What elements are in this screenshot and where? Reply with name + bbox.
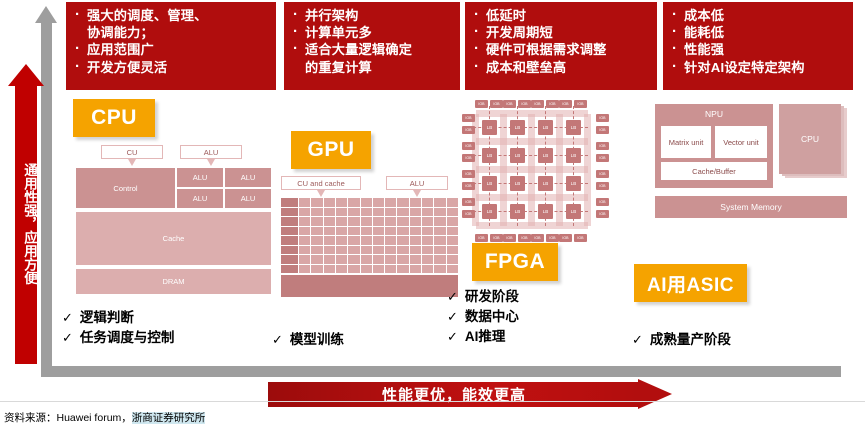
gpu-alu-cell: [299, 198, 310, 207]
gpu-alu-cell: [434, 255, 445, 264]
gpu-alu-cell: [324, 255, 335, 264]
feature-item: 适合大量逻辑确定: [290, 41, 454, 58]
gpu-alu-cell: [434, 227, 445, 236]
cpu-cache-block: Cache: [75, 211, 272, 266]
gpu-alu-cell: [397, 265, 408, 274]
gpu-alu-cell: [397, 236, 408, 245]
feature-item: 针对AI设定特定架构: [669, 59, 847, 76]
chip-label-asic: AI用ASIC: [634, 264, 747, 302]
gpu-cu-cache-cell: [281, 236, 298, 245]
gpu-alu-cell: [324, 217, 335, 226]
feature-item: 开发周期短: [471, 24, 651, 41]
fpga-io-block: IOB: [462, 210, 475, 218]
gpu-alu-cell: [299, 246, 310, 255]
fpga-logic-block: LB: [510, 120, 525, 135]
chip-label-fpga: FPGA: [472, 243, 558, 281]
gpu-alu-cell: [299, 217, 310, 226]
gpu-alu-cell: [299, 265, 310, 274]
gpu-alu-cell: [324, 236, 335, 245]
callout-label: ALU: [204, 148, 219, 157]
gpu-alu-cell: [311, 227, 322, 236]
check-row: ✓ 研发阶段: [447, 287, 519, 307]
gpu-alu-cell: [348, 227, 359, 236]
gpu-alu-cell: [434, 236, 445, 245]
footer-source-link[interactable]: 浙商证券研究所: [132, 412, 206, 424]
check-row: ✓ 模型训练: [272, 330, 344, 350]
fpga-logic-block: LB: [566, 120, 581, 135]
fpga-io-block: IOB: [596, 114, 609, 122]
fpga-logic-block: LB: [482, 148, 497, 163]
feature-item: 并行架构: [290, 7, 454, 24]
gpu-alu-cell: [447, 236, 458, 245]
check-label: 逻辑判断: [80, 308, 134, 328]
gpu-alu-cell: [299, 227, 310, 236]
feature-box-gpu: 并行架构 计算单元多 适合大量逻辑确定 的重复计算: [284, 2, 460, 90]
gpu-alu-cell: [447, 255, 458, 264]
fpga-logic-block: LB: [538, 148, 553, 163]
npu-matrix-unit: Matrix unit: [661, 126, 711, 158]
gpu-alu-cell: [311, 255, 322, 264]
gpu-alu-cell: [410, 198, 421, 207]
gpu-alu-cell: [348, 246, 359, 255]
gpu-alu-cell: [361, 208, 372, 217]
fpga-logic-block: LB: [482, 120, 497, 135]
gpu-alu-cell: [385, 198, 396, 207]
check-label: 成熟量产阶段: [650, 330, 731, 350]
check-icon: ✓: [447, 287, 458, 307]
gpu-alu-cell: [397, 217, 408, 226]
gpu-alu-cell: [397, 255, 408, 264]
gpu-alu-cell: [336, 227, 347, 236]
fpga-io-block: IOB: [518, 234, 531, 242]
gpu-alu-cell: [397, 227, 408, 236]
gpu-alu-cell: [447, 246, 458, 255]
gpu-alu-cell: [348, 208, 359, 217]
gpu-cu-cache-cell: [281, 198, 298, 207]
feature-box-asic: 成本低 能耗低 性能强 针对AI设定特定架构: [663, 2, 853, 90]
gpu-alu-cell: [324, 265, 335, 274]
fpga-io-block: IOB: [503, 234, 516, 242]
check-row: ✓ 任务调度与控制: [62, 328, 174, 348]
gpu-alu-cell: [324, 246, 335, 255]
fpga-logic-block: LB: [482, 176, 497, 191]
gpu-alu-cell: [311, 246, 322, 255]
axis-horizontal-line: [41, 366, 841, 377]
gpu-alu-cell: [348, 217, 359, 226]
callout-label: CU: [127, 148, 138, 157]
feature-item: 性能强: [669, 41, 847, 58]
gpu-alu-cell: [385, 208, 396, 217]
feature-list-fpga: 低延时 开发周期短 硬件可根据需求调整 成本和壁垒高: [471, 7, 651, 76]
gpu-alu-cell: [422, 208, 433, 217]
fpga-logic-block: LB: [566, 176, 581, 191]
check-row: ✓ 逻辑判断: [62, 308, 174, 328]
footer-divider: [0, 401, 865, 402]
check-icon: ✓: [62, 328, 73, 348]
gpu-alu-cell: [299, 255, 310, 264]
fpga-logic-block: LB: [510, 148, 525, 163]
gpu-alu-cell: [410, 246, 421, 255]
gpu-alu-cell: [336, 236, 347, 245]
gpu-alu-cell: [373, 217, 384, 226]
gpu-alu-cell: [324, 227, 335, 236]
gpu-cu-cache-cell: [281, 265, 298, 274]
fpga-logic-block: LB: [510, 176, 525, 191]
gpu-alu-cell: [311, 198, 322, 207]
gpu-alu-cell: [361, 246, 372, 255]
gpu-alu-cell: [311, 265, 322, 274]
gpu-alu-cell: [336, 217, 347, 226]
gpu-alu-cell: [385, 227, 396, 236]
gpu-alu-cell: [397, 208, 408, 217]
fpga-logic-block: LB: [538, 204, 553, 219]
check-row: ✓ AI推理: [447, 327, 519, 347]
callout-pointer-icon: [317, 190, 325, 197]
fpga-io-block: IOB: [546, 100, 559, 108]
gpu-alu-cell: [422, 246, 433, 255]
fpga-io-block: IOB: [596, 126, 609, 134]
gpu-alu-cell: [447, 198, 458, 207]
checklist-fpga: ✓ 研发阶段 ✓ 数据中心 ✓ AI推理: [447, 287, 519, 347]
cpu-alu-block: ALU: [176, 167, 224, 188]
slide-canvas: 通用性强，应用方便 强大的调度、管理、 协调能力； 应用范围广 开发方便灵活 并…: [0, 0, 865, 434]
gpu-alu-cell: [447, 227, 458, 236]
horizontal-arrow-head-icon: [638, 379, 672, 409]
check-label: 数据中心: [465, 307, 519, 327]
gpu-alu-cell: [311, 208, 322, 217]
gpu-alu-cell: [447, 265, 458, 274]
gpu-alu-cell: [348, 265, 359, 274]
gpu-alu-cell: [385, 255, 396, 264]
checklist-cpu: ✓ 逻辑判断 ✓ 任务调度与控制: [62, 308, 174, 348]
gpu-cu-cache-cell: [281, 255, 298, 264]
asic-system-memory-block: System Memory: [655, 196, 847, 218]
fpga-io-block: IOB: [462, 198, 475, 206]
diagram-cpu: CU ALU Control ALU ALU ALU ALU Cache DRA…: [75, 145, 265, 297]
fpga-io-block: IOB: [596, 210, 609, 218]
gpu-alu-cell: [348, 255, 359, 264]
gpu-alu-cell: [324, 198, 335, 207]
cpu-alu-block: ALU: [224, 188, 272, 209]
gpu-cu-cache-cell: [281, 217, 298, 226]
fpga-io-block: IOB: [574, 100, 587, 108]
fpga-io-block: IOB: [490, 100, 503, 108]
fpga-io-block: IOB: [462, 114, 475, 122]
chip-label-cpu: CPU: [73, 99, 155, 137]
gpu-alu-cell: [336, 265, 347, 274]
gpu-alu-cell: [361, 217, 372, 226]
callout-pointer-icon: [413, 190, 421, 197]
fpga-io-block: IOB: [559, 100, 572, 108]
feature-item-continuation: 的重复计算: [290, 59, 454, 76]
fpga-logic-block: LB: [566, 148, 581, 163]
horizontal-axis-arrow: 性能更优，能效更高: [268, 379, 672, 410]
gpu-alu-grid: [281, 198, 458, 273]
gpu-dram-block: [281, 275, 458, 297]
gpu-alu-cell: [373, 265, 384, 274]
fpga-logic-block: LB: [538, 176, 553, 191]
gpu-alu-cell: [361, 227, 372, 236]
check-label: 模型训练: [290, 330, 344, 350]
check-label: AI推理: [465, 327, 506, 347]
callout-pointer-icon: [128, 159, 136, 166]
gpu-alu-cell: [336, 255, 347, 264]
gpu-alu-cell: [324, 208, 335, 217]
fpga-io-block: IOB: [518, 100, 531, 108]
gpu-alu-cell: [422, 236, 433, 245]
fpga-logic-block: LB: [538, 120, 553, 135]
feature-item: 能耗低: [669, 24, 847, 41]
gpu-alu-cell: [434, 217, 445, 226]
fpga-routing-channel-horizontal: [476, 138, 588, 145]
vertical-axis-label: 通用性强，应用方便: [15, 88, 37, 360]
asic-cpu-block: CPU: [779, 104, 841, 174]
diagram-asic: NPU Matrix unit Vector unit Cache/Buffer…: [655, 104, 853, 228]
fpga-logic-block: LB: [510, 204, 525, 219]
feature-item: 强大的调度、管理、: [72, 7, 270, 24]
gpu-alu-cell: [373, 198, 384, 207]
check-icon: ✓: [62, 308, 73, 328]
gpu-alu-cell: [385, 246, 396, 255]
feature-item: 计算单元多: [290, 24, 454, 41]
gpu-alu-cell: [397, 246, 408, 255]
gpu-alu-cell: [348, 198, 359, 207]
callout-pointer-icon: [207, 159, 215, 166]
fpga-io-block: IOB: [574, 234, 587, 242]
check-row: ✓ 数据中心: [447, 307, 519, 327]
cpu-control-block: Control: [75, 167, 176, 209]
callout-cpu-cu: CU: [101, 145, 163, 159]
check-label: 研发阶段: [465, 287, 519, 307]
fpga-io-block: IOB: [490, 234, 503, 242]
gpu-alu-cell: [336, 246, 347, 255]
check-row: ✓ 成熟量产阶段: [632, 330, 731, 350]
horizontal-axis-label: 性能更优，能效更高: [268, 382, 640, 407]
gpu-alu-cell: [373, 236, 384, 245]
gpu-cu-cache-cell: [281, 246, 298, 255]
npu-cache-buffer: Cache/Buffer: [661, 162, 767, 180]
gpu-alu-cell: [373, 208, 384, 217]
cpu-dram-block: DRAM: [75, 268, 272, 295]
fpga-io-block: IOB: [475, 234, 488, 242]
fpga-io-block: IOB: [546, 234, 559, 242]
callout-gpu-alu: ALU: [386, 176, 448, 190]
gpu-alu-cell: [361, 198, 372, 207]
gpu-cu-cache-cell: [281, 208, 298, 217]
gpu-alu-cell: [311, 217, 322, 226]
gpu-alu-cell: [422, 217, 433, 226]
fpga-io-block: IOB: [503, 100, 516, 108]
gpu-alu-cell: [434, 208, 445, 217]
gpu-alu-cell: [385, 217, 396, 226]
gpu-alu-cell: [422, 265, 433, 274]
feature-list-gpu: 并行架构 计算单元多 适合大量逻辑确定 的重复计算: [290, 7, 454, 76]
callout-gpu-cu-and-cache: CU and cache: [281, 176, 361, 190]
diagram-gpu: CU and cache ALU: [278, 176, 460, 298]
checklist-asic: ✓ 成熟量产阶段: [632, 330, 731, 350]
fpga-routing-channel-horizontal: [476, 222, 588, 229]
feature-item: 开发方便灵活: [72, 59, 270, 76]
npu-vector-unit: Vector unit: [715, 126, 767, 158]
checklist-gpu: ✓ 模型训练: [272, 330, 344, 350]
fpga-io-block: IOB: [462, 154, 475, 162]
fpga-io-block: IOB: [462, 170, 475, 178]
gpu-alu-cell: [447, 208, 458, 217]
fpga-logic-block: LB: [566, 204, 581, 219]
feature-item: 低延时: [471, 7, 651, 24]
feature-item: 硬件可根据需求调整: [471, 41, 651, 58]
gpu-alu-cell: [434, 198, 445, 207]
gpu-alu-cell: [336, 198, 347, 207]
gpu-alu-cell: [410, 236, 421, 245]
fpga-io-block: IOB: [596, 198, 609, 206]
check-icon: ✓: [447, 327, 458, 347]
gpu-alu-cell: [311, 236, 322, 245]
feature-item: 成本和壁垒高: [471, 59, 651, 76]
axis-up-arrow-icon: [35, 6, 57, 23]
gpu-cu-cache-cell: [281, 227, 298, 236]
gpu-alu-cell: [434, 246, 445, 255]
vertical-arrow-head-icon: [8, 64, 44, 86]
feature-item: 应用范围广: [72, 41, 270, 58]
fpga-routing-channel-horizontal: [476, 110, 588, 117]
fpga-io-block: IOB: [596, 170, 609, 178]
gpu-alu-cell: [410, 217, 421, 226]
gpu-alu-cell: [299, 208, 310, 217]
fpga-io-block: IOB: [559, 234, 572, 242]
fpga-io-block: IOB: [475, 100, 488, 108]
check-label: 任务调度与控制: [80, 328, 175, 348]
gpu-alu-cell: [361, 265, 372, 274]
callout-label: ALU: [410, 179, 425, 188]
feature-list-cpu: 强大的调度、管理、 协调能力； 应用范围广 开发方便灵活: [72, 7, 270, 76]
fpga-io-block: IOB: [596, 182, 609, 190]
gpu-alu-cell: [410, 227, 421, 236]
fpga-routing-channel-horizontal: [476, 166, 588, 173]
fpga-io-block: IOB: [462, 182, 475, 190]
gpu-alu-cell: [410, 265, 421, 274]
fpga-logic-block: LB: [482, 204, 497, 219]
feature-box-cpu: 强大的调度、管理、 协调能力； 应用范围广 开发方便灵活: [66, 2, 276, 90]
vertical-axis-arrow: 通用性强，应用方便: [8, 64, 44, 364]
diagram-fpga: LBLBLBLBLBLBLBLBLBLBLBLBLBLBLBLBIOBIOBIO…: [462, 100, 602, 240]
callout-cpu-alu: ALU: [180, 145, 242, 159]
feature-box-fpga: 低延时 开发周期短 硬件可根据需求调整 成本和壁垒高: [465, 2, 657, 90]
callout-label: CU and cache: [297, 179, 345, 188]
fpga-io-block: IOB: [531, 100, 544, 108]
fpga-routing-channel-horizontal: [476, 194, 588, 201]
cpu-alu-block: ALU: [224, 167, 272, 188]
npu-label: NPU: [655, 109, 773, 119]
gpu-alu-cell: [447, 217, 458, 226]
gpu-alu-cell: [348, 236, 359, 245]
gpu-alu-cell: [373, 246, 384, 255]
gpu-alu-cell: [361, 255, 372, 264]
gpu-alu-cell: [422, 198, 433, 207]
fpga-io-block: IOB: [596, 154, 609, 162]
gpu-alu-cell: [410, 255, 421, 264]
gpu-alu-cell: [361, 236, 372, 245]
fpga-io-block: IOB: [462, 126, 475, 134]
gpu-alu-cell: [373, 255, 384, 264]
gpu-alu-cell: [373, 227, 384, 236]
gpu-alu-cell: [410, 208, 421, 217]
gpu-alu-cell: [422, 255, 433, 264]
feature-item-continuation: 协调能力；: [72, 24, 270, 41]
check-icon: ✓: [447, 307, 458, 327]
gpu-alu-cell: [385, 265, 396, 274]
check-icon: ✓: [632, 330, 643, 350]
gpu-alu-cell: [422, 227, 433, 236]
gpu-alu-cell: [385, 236, 396, 245]
fpga-io-block: IOB: [596, 142, 609, 150]
footer-source-prefix: 资料来源：Huawei forum，: [4, 412, 132, 424]
feature-list-asic: 成本低 能耗低 性能强 针对AI设定特定架构: [669, 7, 847, 76]
feature-item: 成本低: [669, 7, 847, 24]
footer-source: 资料来源：Huawei forum，浙商证券研究所: [4, 410, 205, 425]
gpu-alu-cell: [397, 198, 408, 207]
gpu-alu-cell: [336, 208, 347, 217]
check-icon: ✓: [272, 330, 283, 350]
fpga-io-block: IOB: [531, 234, 544, 242]
cpu-alu-block: ALU: [176, 188, 224, 209]
chip-label-gpu: GPU: [291, 131, 371, 169]
gpu-alu-cell: [299, 236, 310, 245]
gpu-alu-cell: [434, 265, 445, 274]
fpga-io-block: IOB: [462, 142, 475, 150]
